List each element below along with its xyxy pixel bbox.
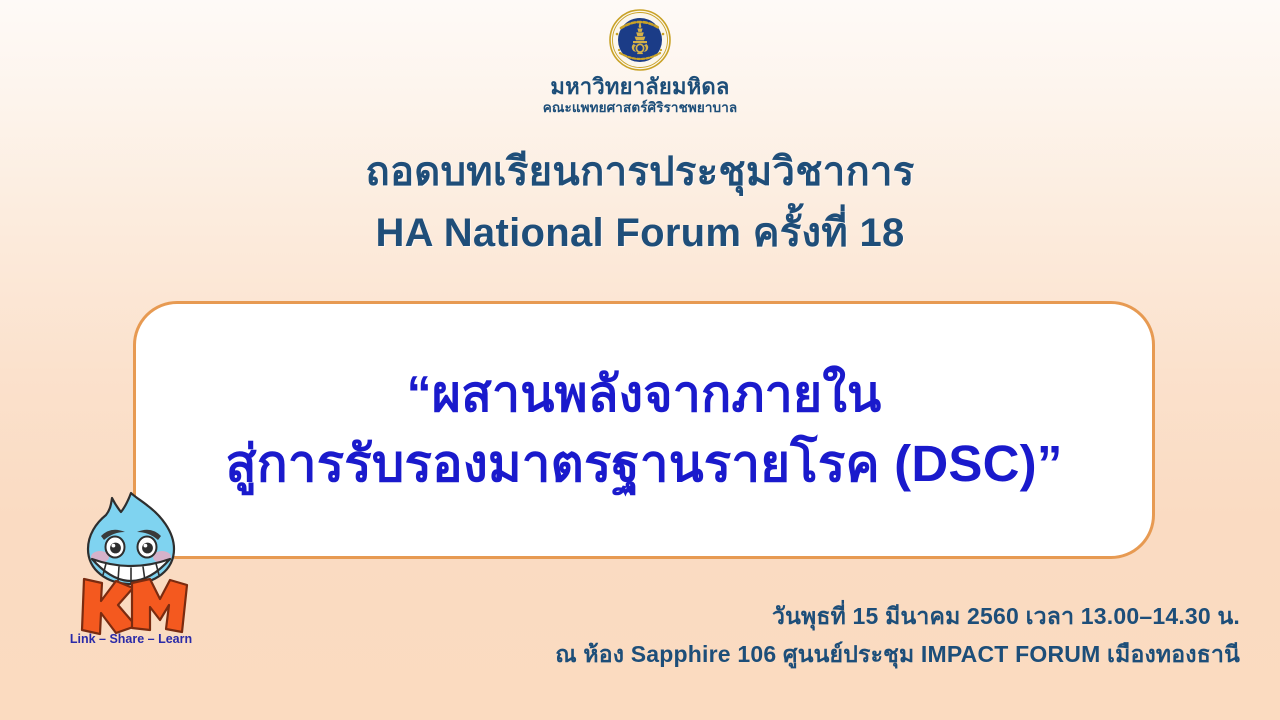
university-name: มหาวิทยาลัยมหิดล [0, 74, 1280, 99]
km-letters [82, 579, 187, 634]
quote-card: “ผสานพลังจากภายใน สู่การรับรองมาตรฐานราย… [133, 301, 1155, 559]
km-mascot-logo: Link – Share – Learn [70, 487, 192, 647]
faculty-name: คณะแพทยศาสตร์ศิริราชพยาบาล [0, 100, 1280, 116]
km-tagline: Link – Share – Learn [70, 632, 192, 646]
institution-header: มหาวิทยาลัยมหิดล คณะแพทยศาสตร์ศิริราชพยา… [0, 8, 1280, 116]
headline-line-2: HA National Forum ครั้งที่ 18 [0, 203, 1280, 264]
event-date-time: วันพุธที่ 15 มีนาคม 2560 เวลา 13.00–14.3… [240, 598, 1240, 636]
mahidol-university-seal-icon [603, 8, 677, 72]
quote-line-1: “ผสานพลังจากภายใน [136, 360, 1152, 429]
quote-line-2: สู่การรับรองมาตรฐานรายโรค (DSC)” [136, 429, 1152, 499]
droplet-character-icon [88, 493, 174, 584]
presentation-slide: มหาวิทยาลัยมหิดล คณะแพทยศาสตร์ศิริราชพยา… [0, 0, 1280, 720]
headline-line-1: ถอดบทเรียนการประชุมวิชาการ [0, 142, 1280, 203]
event-venue: ณ ห้อง Sapphire 106 ศูนนย์ประชุม IMPACT … [240, 636, 1240, 674]
slide-headline: ถอดบทเรียนการประชุมวิชาการ HA National F… [0, 142, 1280, 264]
event-details: วันพุธที่ 15 มีนาคม 2560 เวลา 13.00–14.3… [240, 598, 1240, 674]
